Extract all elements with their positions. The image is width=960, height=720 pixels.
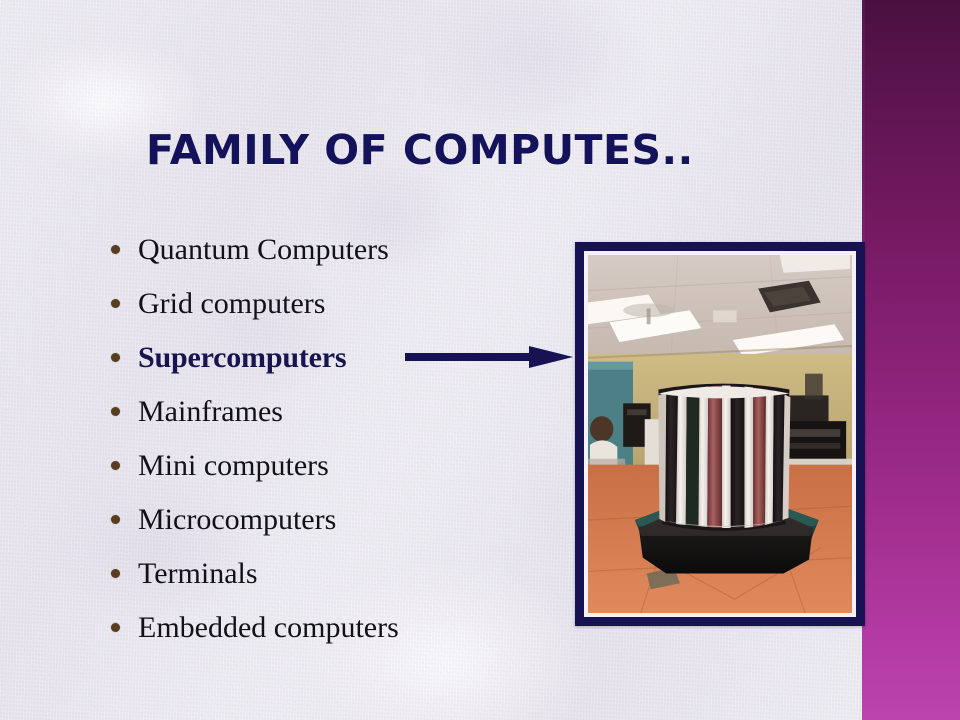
list-item[interactable]: Microcomputers: [104, 493, 544, 547]
computer-family-list: Quantum Computers Grid computers Superco…: [104, 223, 544, 655]
list-item[interactable]: Embedded computers: [104, 601, 544, 655]
right-arrow-icon: [405, 345, 573, 369]
bullet-dot-icon: [111, 461, 120, 470]
list-item[interactable]: Mainframes: [104, 385, 544, 439]
list-item-label: Mainframes: [138, 395, 283, 428]
list-item-label: Grid computers: [138, 287, 325, 320]
bullet-dot-icon: [111, 623, 120, 632]
list-item-label: Quantum Computers: [138, 233, 389, 266]
accent-band: [862, 0, 960, 720]
list-item-label: Supercomputers: [138, 341, 346, 374]
slide-canvas: FAMILY OF COMPUTES.. Quantum Computers G…: [0, 0, 960, 720]
supercomputer-photo: [588, 255, 852, 613]
photo-frame[interactable]: [575, 242, 865, 626]
bullet-dot-icon: [111, 353, 120, 362]
callout-arrow: [405, 345, 573, 369]
list-item-label: Microcomputers: [138, 503, 336, 536]
list-item-label: Terminals: [138, 557, 258, 590]
bullet-dot-icon: [111, 569, 120, 578]
list-item[interactable]: Terminals: [104, 547, 544, 601]
bullet-dot-icon: [111, 299, 120, 308]
bullet-dot-icon: [111, 407, 120, 416]
page-title: FAMILY OF COMPUTES..: [146, 126, 694, 174]
list-item[interactable]: Quantum Computers: [104, 223, 544, 277]
list-item[interactable]: Mini computers: [104, 439, 544, 493]
list-item-label: Mini computers: [138, 449, 329, 482]
list-item-label: Embedded computers: [138, 611, 399, 644]
list-item[interactable]: Grid computers: [104, 277, 544, 331]
photo-mat: [584, 251, 856, 617]
bullet-dot-icon: [111, 515, 120, 524]
bullet-dot-icon: [111, 245, 120, 254]
